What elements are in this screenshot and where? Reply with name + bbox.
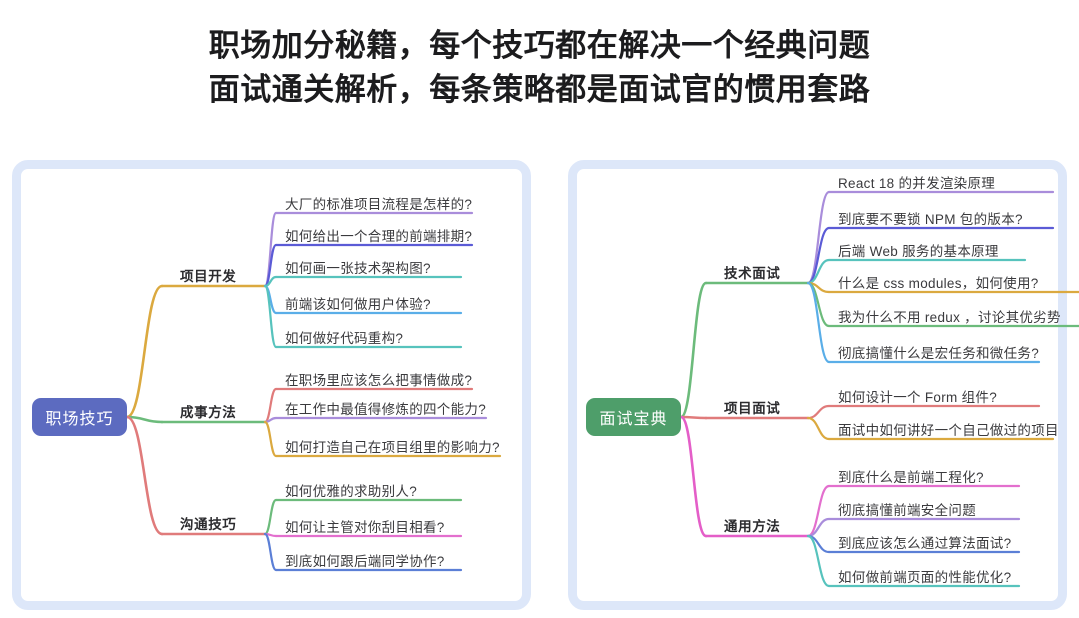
page-title: 职场加分秘籍，每个技巧都在解决一个经典问题 面试通关解析，每条策略都是面试官的惯…	[0, 24, 1079, 112]
mindmap-card-interview	[568, 160, 1067, 610]
mindmap-card-workplace	[12, 160, 531, 610]
title-line-2: 面试通关解析，每条策略都是面试官的惯用套路	[0, 68, 1079, 112]
title-line-1: 职场加分秘籍，每个技巧都在解决一个经典问题	[0, 24, 1079, 68]
